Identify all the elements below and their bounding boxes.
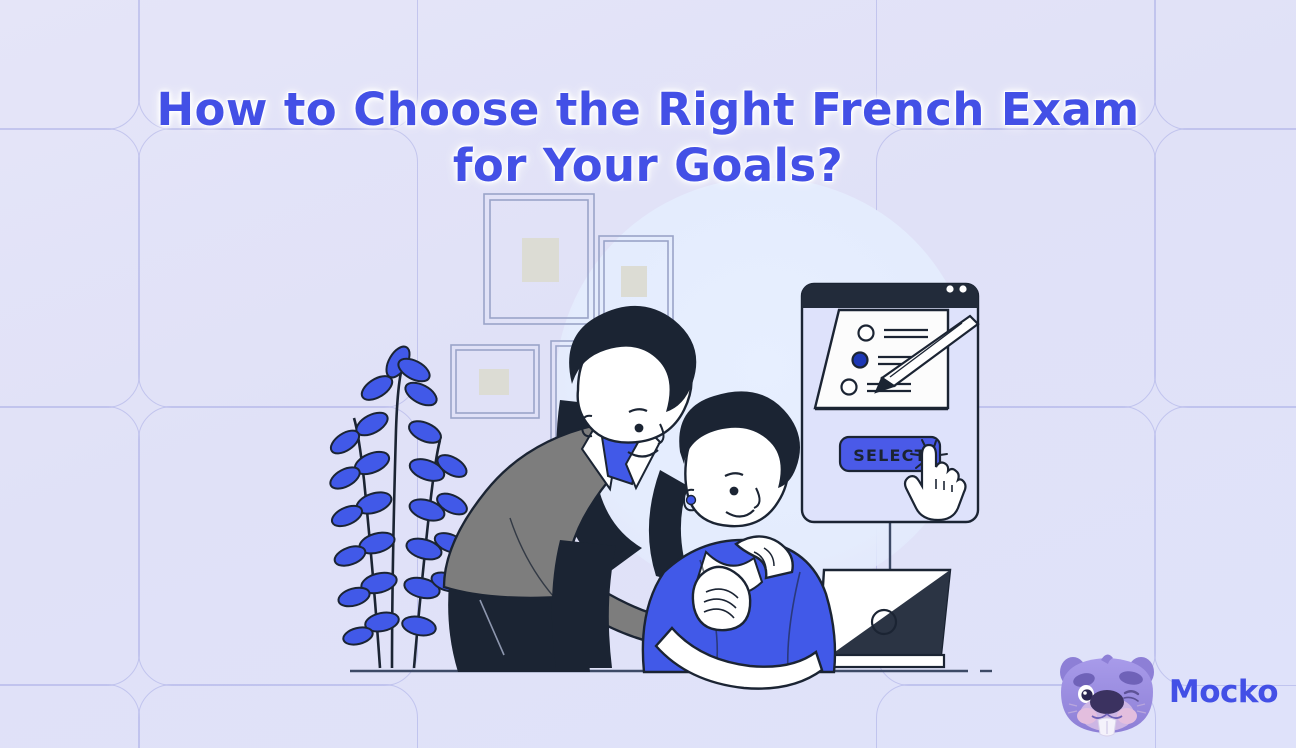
titlebar-dot	[959, 285, 966, 292]
woman-earring	[687, 496, 696, 505]
office-chair	[552, 540, 616, 668]
woman-eye	[730, 487, 739, 496]
banner-canvas: SELECT How to Choose the Right French Ex…	[0, 0, 1296, 748]
form-radio-selected	[853, 353, 868, 368]
beaver-mascot-icon	[1051, 644, 1163, 740]
titlebar-dot	[946, 285, 953, 292]
man-eye	[635, 424, 644, 433]
frame-small-bottom-left	[451, 345, 539, 418]
brand-logo[interactable]: Mocko	[1051, 644, 1278, 740]
frame-large-left	[484, 194, 594, 324]
screen-panel: SELECT	[802, 284, 978, 522]
form-radio-unselected	[842, 380, 857, 395]
page-title-line-1: How to Choose the Right French Exam	[156, 83, 1139, 136]
form-radio-unselected	[859, 326, 874, 341]
page-title: How to Choose the Right French Exam for …	[0, 82, 1296, 194]
page-title-line-2: for Your Goals?	[0, 138, 1296, 194]
brand-name: Mocko	[1169, 674, 1278, 710]
